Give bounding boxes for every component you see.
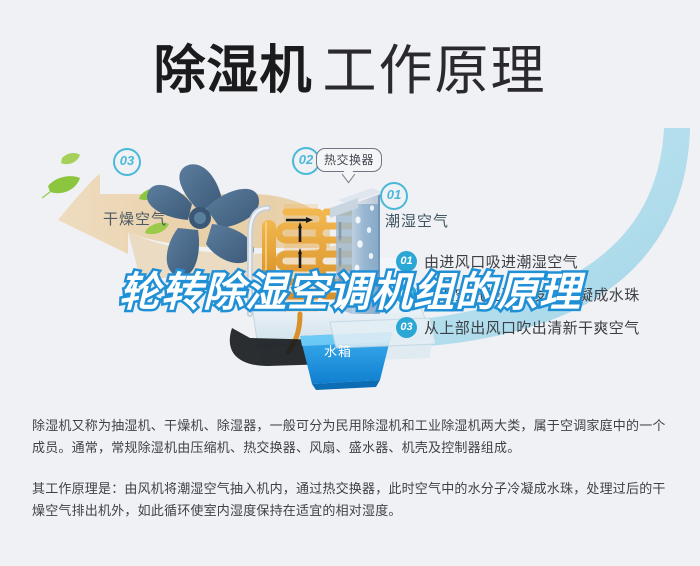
step-text: 从上部出风口吹出清新干爽空气 [424, 317, 640, 338]
label-humid-air: 潮湿空气 [385, 210, 449, 231]
paragraph-text: 除湿机又称为抽湿机、干燥机、除湿器，一般可分为民用除湿机和工业除湿机两大类，属于… [32, 415, 672, 459]
page-title: 除湿机工作原理 [0, 26, 700, 105]
body-paragraph-1: 除湿机又称为抽湿机、干燥机、除湿器，一般可分为民用除湿机和工业除湿机两大类，属于… [32, 415, 672, 459]
heat-exchanger-callout: 热交换器 [316, 148, 382, 172]
badge-dry-air: 03 [113, 148, 141, 176]
page-title-light: 工作原理 [323, 41, 547, 101]
overlay-headline-text: 轮转除湿空调机组的原理 [119, 258, 581, 318]
step-number: 03 [396, 317, 417, 338]
paragraph-text: 其工作原理是：由风机将潮湿空气抽入机内，通过热交换器，此时空气中的水分子冷凝成水… [32, 478, 672, 522]
label-water-tank: 水箱 [324, 341, 352, 360]
overlay-headline: 轮转除湿空调机组的原理 [0, 258, 700, 318]
infographic-page: 除湿机工作原理 [0, 0, 700, 566]
page-title-bold: 除湿机 [153, 42, 312, 100]
label-dry-air: 干燥空气 [103, 208, 167, 229]
badge-humid-air: 01 [380, 182, 408, 210]
body-paragraph-2: 其工作原理是：由风机将潮湿空气抽入机内，通过热交换器，此时空气中的水分子冷凝成水… [32, 478, 672, 522]
